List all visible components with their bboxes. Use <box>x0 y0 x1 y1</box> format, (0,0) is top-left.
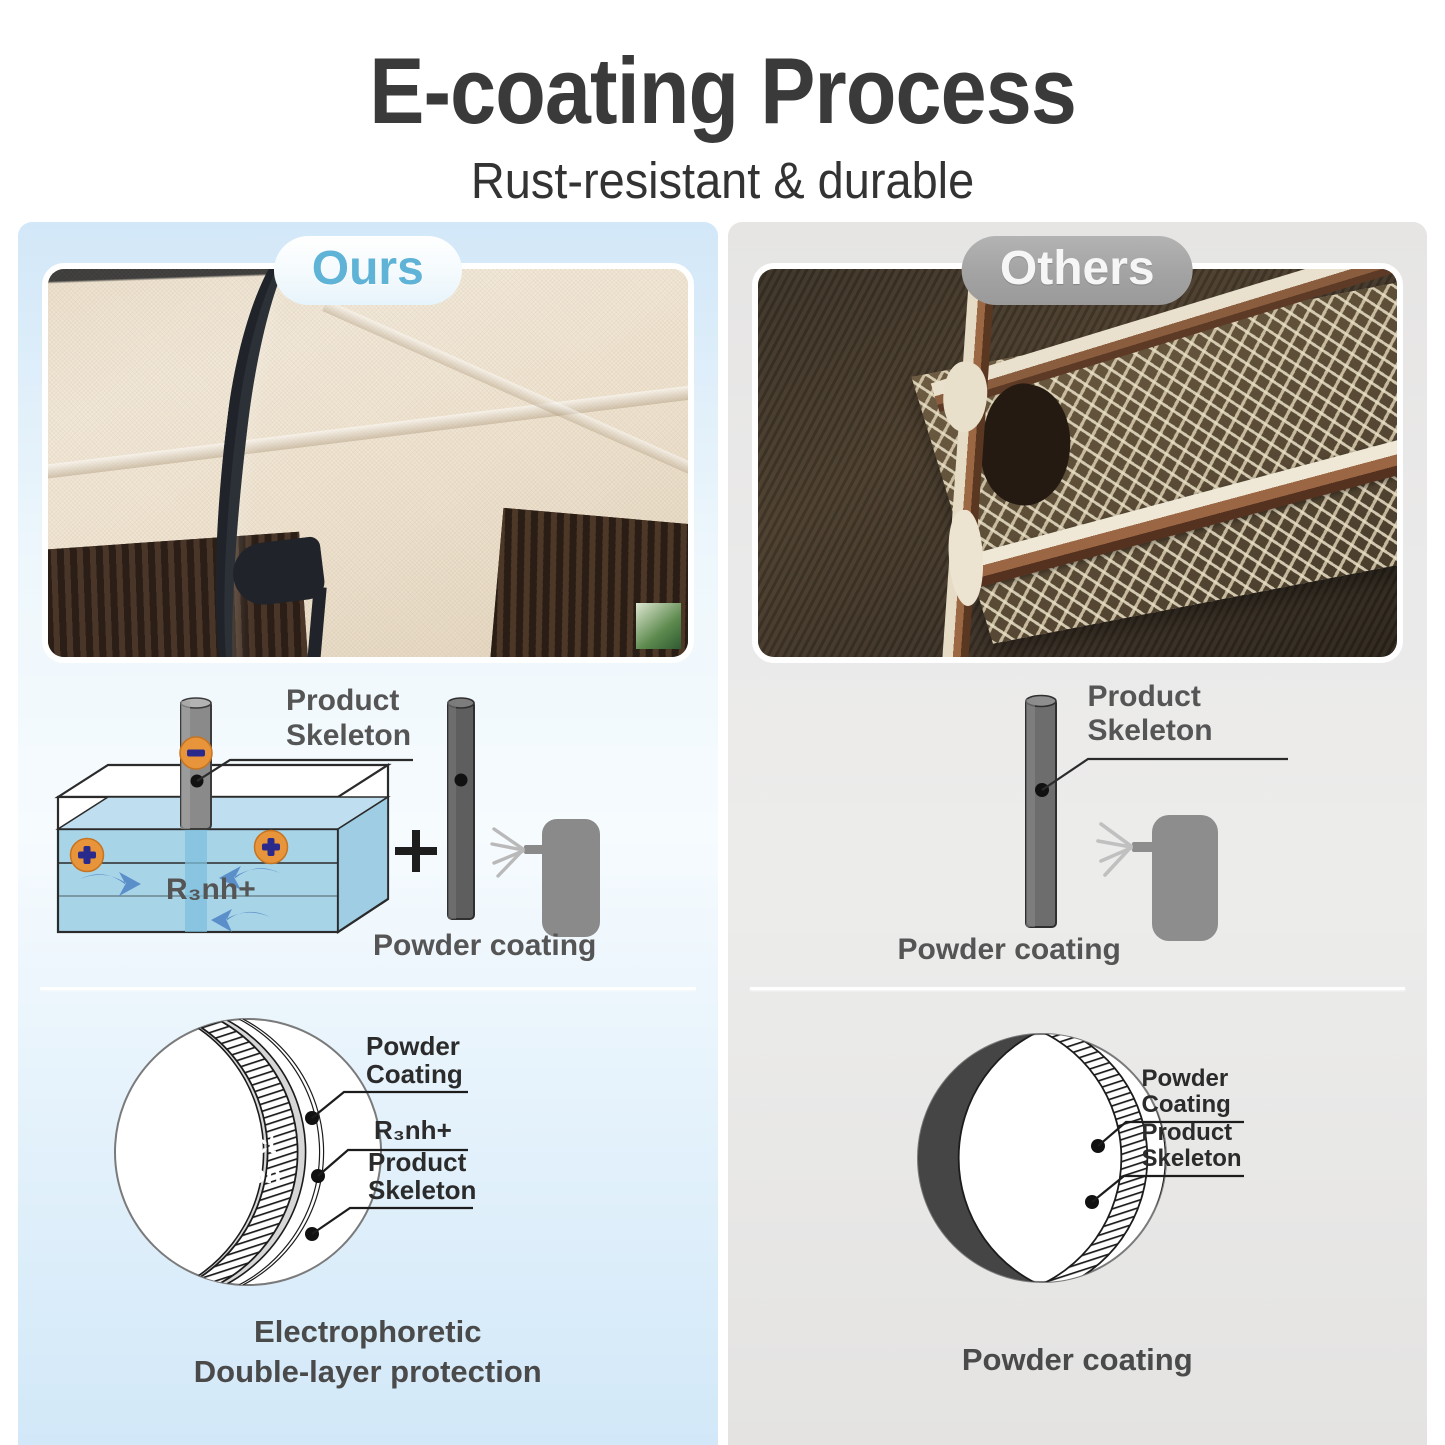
photo-others <box>752 263 1404 663</box>
core-label-others: Product Skeleton <box>971 1140 1071 1195</box>
cross-section-others: Product Skeleton Powder Coating Product … <box>728 1022 1428 1312</box>
photo-ours <box>42 263 694 663</box>
callout-powder-coating-others: Powder Coating <box>1142 1066 1231 1118</box>
page-subtitle: Rust-resistant & durable <box>471 151 974 210</box>
label-solution-r3nh-ours: R₃nh+ <box>166 873 256 908</box>
panel-ours: Ours <box>18 222 718 1445</box>
panel-divider-others <box>750 987 1406 990</box>
diagram-powder-coating-others: Product Skeleton Powder coating <box>728 677 1428 977</box>
callout-product-skeleton-others: Product Skeleton <box>1142 1120 1242 1172</box>
label-powder-coating-others: Powder coating <box>898 933 1121 968</box>
page-title: E-coating Process <box>369 42 1076 141</box>
page-header: E-coating Process Rust-resistant & durab… <box>0 0 1445 222</box>
comparison-panels: Ours <box>0 222 1445 1445</box>
label-powder-coating-ours: Powder coating <box>373 929 596 964</box>
badge-others: Others <box>962 236 1193 305</box>
panel-others: Others <box>728 222 1428 1445</box>
core-label-ours: Product Skeleton <box>173 1130 281 1190</box>
badge-ours: Ours <box>274 236 462 305</box>
callout-powder-coating-ours: Powder Coating <box>366 1032 463 1088</box>
panel-divider-ours <box>40 987 696 990</box>
diagram-electrophoresis: Product Skeleton R₃nh+ Powder coating <box>18 677 718 977</box>
caption-ours: Electrophoretic Double-layer protection <box>18 1312 718 1391</box>
cross-section-ours: Product Skeleton Powder Coating R₃nh+ Pr… <box>18 1012 718 1302</box>
label-product-skeleton-others: Product Skeleton <box>1088 680 1213 747</box>
label-product-skeleton-ours: Product Skeleton <box>286 684 411 753</box>
foliage-accent <box>636 603 681 650</box>
caption-others: Powder coating <box>728 1340 1428 1380</box>
callout-r3nh-ours: R₃nh+ <box>374 1116 452 1146</box>
callout-product-skeleton-ours: Product Skeleton <box>368 1148 476 1204</box>
